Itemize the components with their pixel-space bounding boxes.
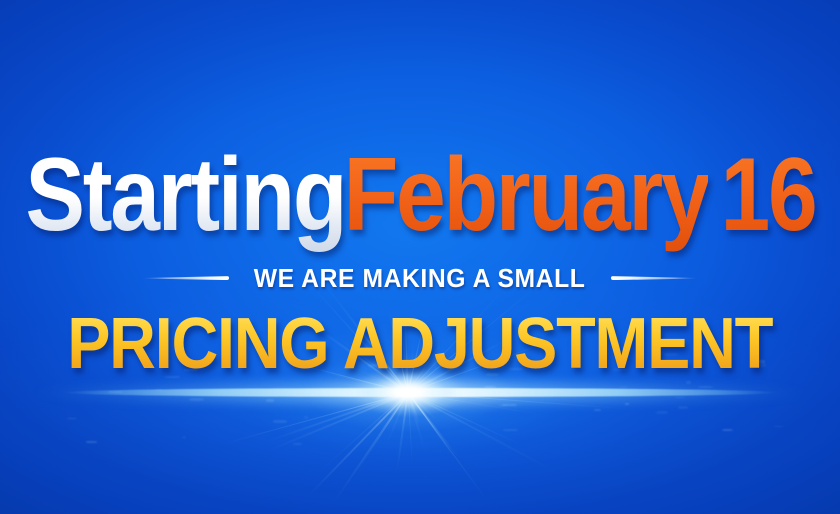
subtitle-text: WE ARE MAKING A SMALL (254, 263, 586, 294)
tapered-rule-left-icon (143, 276, 229, 280)
headline-day: 16 (720, 137, 815, 253)
gold-headline: PRICING ADJUSTMENT (67, 308, 773, 380)
banner-content: StartingFebruary16 WE ARE MAKING A SMALL… (0, 0, 840, 514)
headline-month: February (343, 137, 708, 253)
headline-date: StartingFebruary16 (25, 148, 815, 244)
headline-prefix: Starting (25, 137, 345, 253)
promo-banner: StartingFebruary16 WE ARE MAKING A SMALL… (0, 0, 840, 514)
subtitle-row: WE ARE MAKING A SMALL (143, 263, 696, 294)
tapered-rule-right-icon (611, 276, 697, 280)
